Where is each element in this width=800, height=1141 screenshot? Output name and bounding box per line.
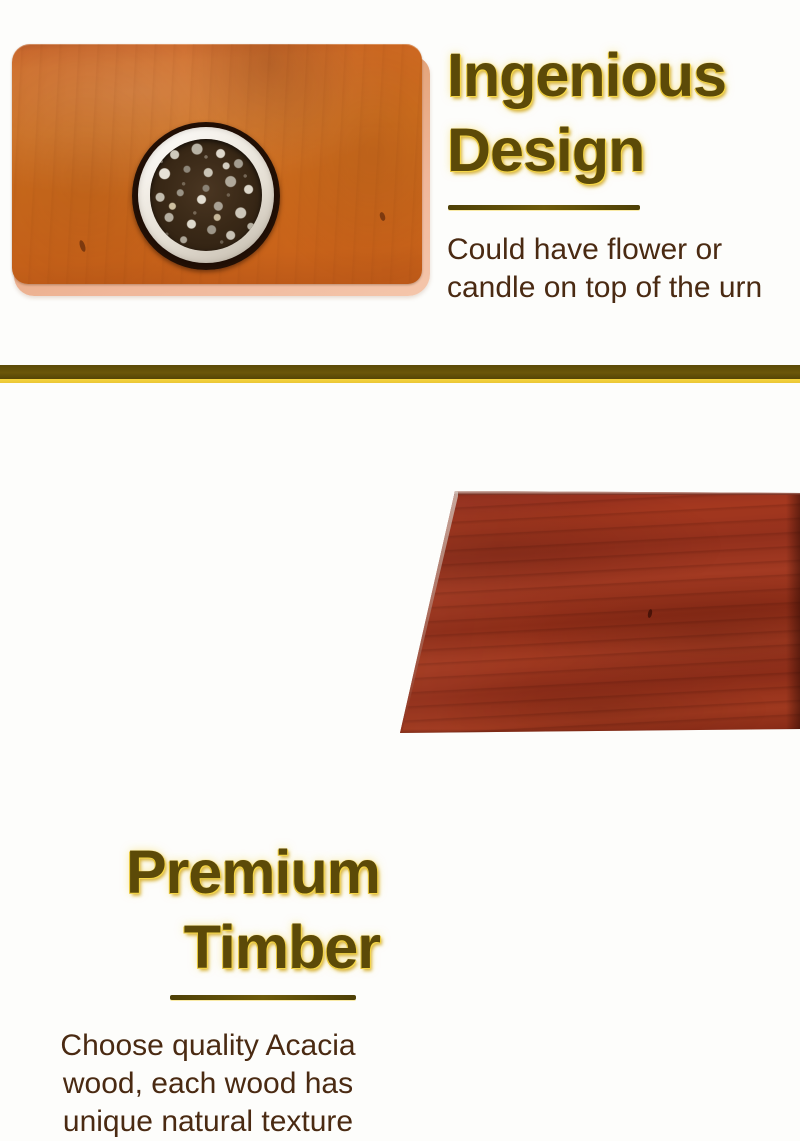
gravel-fine-grit	[150, 139, 262, 251]
ceramic-pot-interior	[150, 139, 262, 251]
accent-rule-bottom	[170, 995, 356, 1000]
timber-top-edge-highlight	[455, 491, 800, 495]
ceramic-pot-rim	[138, 127, 274, 263]
urn-box-top-face	[12, 44, 422, 284]
section-premium-timber: Premium Timber Choose quality Acacia woo…	[0, 383, 800, 800]
body-text-premium-timber: Choose quality Acacia wood, each wood ha…	[38, 1027, 378, 1141]
wooden-urn-box-image	[12, 44, 430, 296]
timber-grain-shading	[398, 491, 800, 739]
marketing-image-canvas: Ingenious Design Could have flower or ca…	[0, 0, 800, 800]
timber-right-edge-shadow	[786, 491, 800, 739]
section-ingenious-design: Ingenious Design Could have flower or ca…	[0, 0, 800, 365]
mahogany-timber-panel-image	[398, 491, 800, 739]
section-divider-bar	[0, 365, 800, 379]
urn-circular-recess	[132, 122, 280, 270]
timber-bottom-edge	[398, 729, 800, 739]
accent-rule-top	[448, 205, 640, 210]
body-text-ingenious-design: Could have flower or candle on top of th…	[447, 231, 762, 307]
headline-premium-timber: Premium Timber	[40, 835, 380, 985]
headline-ingenious-design: Ingenious Design	[447, 38, 726, 188]
